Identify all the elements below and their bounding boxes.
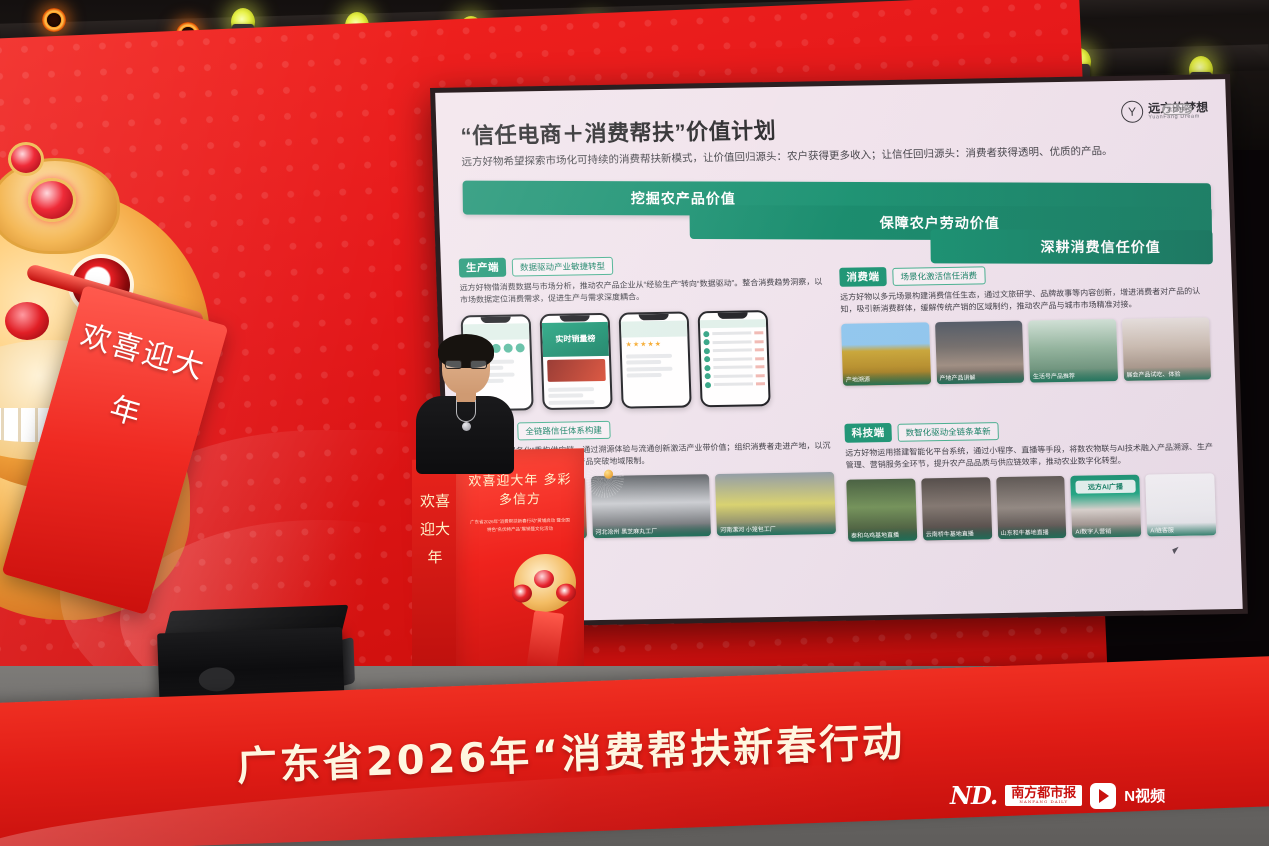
podium: 欢喜迎大年 欢喜迎大年 多彩多信方 广东省2026年“消费帮扶新春行动”黄埔启动…	[412, 448, 584, 690]
thumbnail-photo: 展会产品试吃、体验	[1122, 317, 1212, 380]
ai-broadcast-banner: 远方AI广播	[1075, 479, 1136, 494]
thumbnail-caption: 河南漯河 小笼包工厂	[717, 521, 836, 536]
necklace	[456, 400, 476, 422]
lion-nose	[5, 302, 49, 340]
panel-tag: 消费端	[839, 267, 887, 287]
brand-tag: 远方好物	[1162, 104, 1192, 116]
panel-body-text: 远方好物借消费数据与市场分析，推动农产品企业从“经验生产”转向“数据驱动”。整合…	[459, 276, 828, 307]
panel-tag: 生产端	[459, 258, 507, 278]
thumbnail-caption: AI数字人营销	[1072, 523, 1141, 537]
thumbnail-photo: 山东和牛基地直播	[996, 476, 1067, 539]
speaker-person	[408, 338, 520, 470]
thumbnail-photo: 泰和乌鸡基地直播	[846, 478, 917, 541]
panel-consumer: 消费端 场景化激活信任消费 远方好物以多元场景构建消费信任生态，通过文旅研学、品…	[839, 261, 1211, 385]
nanfang-daily-en: NANFANG DAILY	[1011, 800, 1076, 804]
phone-mockup-sales-rank: 实时销量榜	[540, 313, 613, 410]
lion-gem-top	[8, 142, 44, 176]
phone-mockup-reviews: ★★★★★	[619, 311, 692, 408]
podium-front-panel: 欢喜迎大年 多彩多信方 广东省2026年“消费帮扶新春行动”黄埔启动 暨全国特色…	[456, 448, 584, 689]
speaker-grille	[198, 667, 235, 692]
thumbnail-photo: 河南漯河 小笼包工厂	[715, 472, 836, 536]
thumbnail-row: 产地溯源 产地产品讲解 生活号产品推荐 展会产品试吃、体验	[841, 317, 1211, 385]
podium-side-panel: 欢喜迎大年	[412, 459, 458, 688]
necklace-pendant	[462, 422, 471, 431]
lion-gem-center	[28, 178, 76, 222]
nanfang-daily-logo: 南方都市报 NANFANG DAILY	[1005, 785, 1082, 807]
panel-tag: 科技端	[844, 423, 892, 443]
thumbnail-photo: 产地溯源	[841, 322, 931, 385]
thumbnail-photo: 云南桥牛基地直播	[921, 477, 992, 540]
thumbnail-caption: AI链客服	[1147, 522, 1216, 536]
play-icon	[1090, 783, 1116, 809]
phone-mockup-list	[698, 310, 771, 407]
thumbnail-photo-app: AI链客服	[1145, 473, 1216, 536]
thumbnail-photo-ai: 远方AI广播 AI数字人营销	[1071, 474, 1142, 537]
thumbnail-caption: 河北沧州 黑芝麻丸工厂	[592, 523, 711, 538]
glasses-icon	[445, 360, 487, 369]
panel-body-text: 远方好物以多元场景构建消费信任生态，通过文旅研学、品牌故事等内容创新，增进消费者…	[840, 285, 1209, 316]
panel-header: 生产端 数据驱动产业敏捷转型	[459, 252, 828, 277]
panel-technology: 科技端 数智化驱动全链条革新 远方好物运用搭建智能化平台系统，通过小程序、直播等…	[844, 417, 1216, 541]
thumbnail-caption: 云南桥牛基地直播	[923, 526, 992, 540]
panel-header: 消费端 场景化激活信任消费	[839, 261, 1208, 286]
watermark-group: ND. 南方都市报 NANFANG DAILY N视频	[950, 781, 1165, 810]
n-video-label: N视频	[1124, 785, 1165, 806]
thumbnail-photo: 生活号产品推荐	[1028, 319, 1118, 382]
thumbnail-caption: 产地产品讲解	[936, 369, 1024, 384]
podium-subtitle-text: 广东省2026年“消费帮扶新春行动”黄埔启动 暨全国特色“名优特产品”展销暨文化…	[470, 516, 570, 533]
thumbnail-caption: 山东和牛基地直播	[997, 525, 1066, 539]
podium-lion-icon	[508, 553, 582, 675]
thumbnail-caption: 生活号产品推荐	[1030, 368, 1118, 383]
thumbnail-photo: 产地产品讲解	[935, 320, 1025, 383]
mouse-cursor-icon	[1172, 545, 1185, 554]
podium-title-text: 欢喜迎大年 多彩多信方	[466, 470, 574, 510]
thumbnail-caption: 泰和乌鸡基地直播	[848, 527, 917, 541]
value-bar-trust: 深耕消费信任价值	[930, 229, 1213, 264]
phone-rank-title: 实时销量榜	[542, 322, 609, 357]
nd-logo: ND.	[950, 781, 997, 810]
panel-subtag: 全链路信任体系构建	[517, 420, 610, 440]
brand-mark-icon: Y	[1121, 101, 1144, 123]
panel-subtag: 数据驱动产业敏捷转型	[512, 256, 614, 276]
brand-logo: 远方好物 Y 远方的梦想 YuanFang Dream	[1121, 99, 1209, 123]
thumbnail-caption: 展会产品试吃、体验	[1123, 366, 1211, 381]
value-bar-label: 深耕消费信任价值	[1040, 237, 1160, 257]
thumbnail-row: 泰和乌鸡基地直播 云南桥牛基地直播 山东和牛基地直播 远方AI广播 AI数字人营…	[846, 473, 1216, 541]
stage-scene: 欢喜迎大年 “信任电商＋消费帮扶”价值计划 远方好物希望探索市场化可持续的消费帮…	[0, 0, 1269, 846]
thumbnail-caption: 产地溯源	[843, 371, 931, 386]
ring-light	[42, 8, 66, 32]
panel-body-text: 远方好物运用搭建智能化平台系统，通过小程序、直播等手段，将数农物联与AI技术融入…	[845, 441, 1214, 472]
panel-subtag: 场景化激活信任消费	[892, 266, 985, 286]
panel-header: 科技端 数智化驱动全链条革新	[844, 417, 1213, 442]
panel-subtag: 数智化驱动全链条革新	[897, 422, 999, 442]
podium-side-text: 欢喜迎大年	[420, 487, 450, 572]
